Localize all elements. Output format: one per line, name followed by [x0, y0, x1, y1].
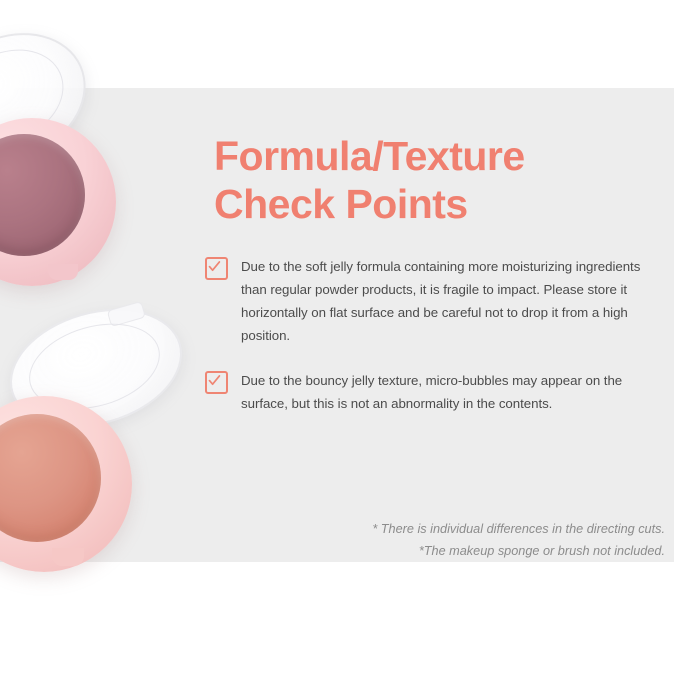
checkpoint-item: Due to the soft jelly formula containing… [205, 255, 665, 347]
checkbox-checked-icon [205, 371, 228, 394]
page-title-line-2: Check Points [214, 180, 644, 228]
checkpoint-text: Due to the soft jelly formula containing… [241, 255, 665, 347]
page-title: Formula/Texture Check Points [214, 132, 644, 228]
footnote-line: *The makeup sponge or brush not included… [205, 540, 665, 562]
footnote-block: * There is individual differences in the… [205, 518, 665, 562]
checkpoint-item: Due to the bouncy jelly texture, micro-b… [205, 369, 665, 415]
checkpoint-text: Due to the bouncy jelly texture, micro-b… [241, 369, 665, 415]
checkpoint-list: Due to the soft jelly formula containing… [205, 255, 665, 437]
product-detail-page: Formula/Texture Check Points Due to the … [0, 0, 679, 679]
checkbox-checked-icon [205, 257, 228, 280]
page-title-line-1: Formula/Texture [214, 132, 644, 180]
footnote-line: * There is individual differences in the… [205, 518, 665, 540]
